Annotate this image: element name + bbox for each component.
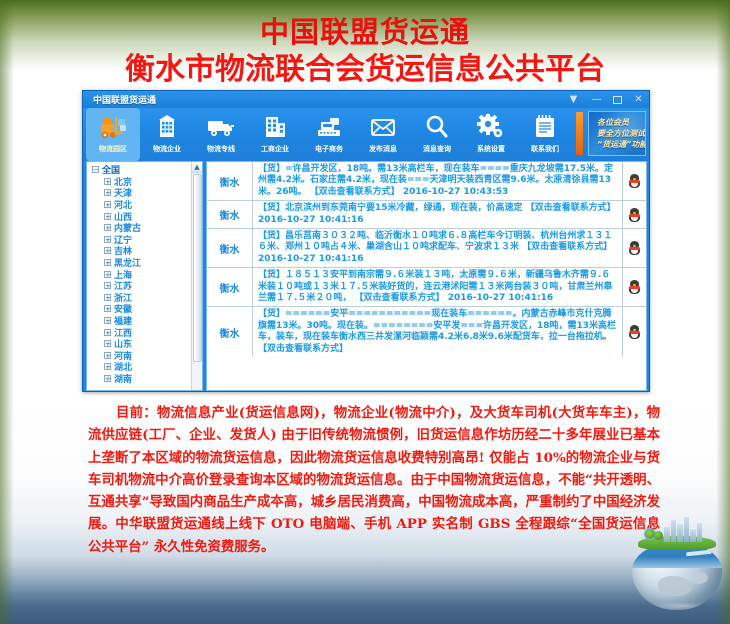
region-tree-panel: − 全国 +北京 +天津 +河北 +山西 +内蒙古 +辽宁 +吉林 +黑龙江 +… xyxy=(86,161,203,391)
row-message-text: 【货】======安平===========现在装车======。内蒙古赤峰市克… xyxy=(258,309,616,353)
truck-icon xyxy=(206,112,236,142)
toolbar-label: 物流园区 xyxy=(99,144,127,154)
scrollbar-thumb[interactable] xyxy=(193,174,202,362)
tree-node-province[interactable]: +黑龙江 xyxy=(91,257,202,269)
tree-node-province[interactable]: +天津 xyxy=(91,187,202,199)
tree-node-province[interactable]: +河南 xyxy=(91,350,202,362)
banner-line-1: 各位会员 xyxy=(597,117,645,128)
row-timestamp: 2016-10-27 10:41:16 xyxy=(448,293,553,303)
expand-icon[interactable]: + xyxy=(104,259,111,266)
page-title: 中国联盟货运通 衡水市物流联合会货运信息公共平台 xyxy=(0,14,730,90)
tree-node-province[interactable]: +内蒙古 xyxy=(91,222,202,234)
tree-node-province[interactable]: +山东 xyxy=(91,338,202,350)
expand-icon[interactable]: + xyxy=(104,282,111,289)
gear-icon xyxy=(477,112,505,142)
tree-scrollbar[interactable]: ▲ xyxy=(191,162,202,390)
toolbar-label: 物流专线 xyxy=(207,144,235,154)
globe-continent-small xyxy=(690,572,708,584)
office-icon xyxy=(262,112,288,142)
title-line-1: 中国联盟货运通 xyxy=(0,14,730,50)
expand-icon[interactable]: + xyxy=(104,271,111,278)
row-timestamp: 2016-10-27 10:41:16 xyxy=(258,215,363,225)
window-controls: ▼ — ✕ xyxy=(567,91,645,108)
freight-message-list: 衡水 【货】=许昌开发区，18吨。需13米高栏车，现在装车====重庆九龙坡需1… xyxy=(206,161,647,391)
toolbar-label: 电子商务 xyxy=(315,144,343,154)
tree-node-province[interactable]: +山西 xyxy=(91,210,202,222)
toolbar-item-logistics-line[interactable]: 物流专线 xyxy=(194,108,248,161)
forklift-icon xyxy=(98,112,128,142)
close-button[interactable]: ✕ xyxy=(632,95,645,105)
tree-node-province[interactable]: +辽宁 xyxy=(91,234,202,246)
globe-graphic xyxy=(628,514,726,618)
expand-icon[interactable]: + xyxy=(104,329,111,336)
banner-line-2: 要全方位测试 xyxy=(597,128,645,139)
description-paragraph: 目前：物流信息产业(货运信息网)，物流企业(物流中介)，及大货车司机(大货车车主… xyxy=(88,402,660,558)
table-row[interactable]: 衡水 【货】======安平===========现在装车======。内蒙古赤… xyxy=(207,307,646,357)
toolbar-item-logistics-park[interactable]: 物流园区 xyxy=(86,108,140,161)
globe-continent xyxy=(658,576,692,596)
qq-contact-button[interactable] xyxy=(622,307,646,357)
row-message: 【货】昌乐莒南３０３２吨、临沂衡水１０吨求６.８高栏车今订明装、杭州台州求１３１… xyxy=(253,229,622,267)
minimize-button[interactable]: — xyxy=(590,95,603,105)
toolbar-item-system-settings[interactable]: 系统设置 xyxy=(464,108,518,161)
row-message: 【货】北京滨州到东莞南宁要15米冷藏，绿通，现在装，价高速定 【双击查看联系方式… xyxy=(253,201,622,228)
tree-node-province[interactable]: +上海 xyxy=(91,268,202,280)
expand-icon[interactable]: + xyxy=(104,224,111,231)
region-tree: − 全国 +北京 +天津 +河北 +山西 +内蒙古 +辽宁 +吉林 +黑龙江 +… xyxy=(87,162,202,384)
toolbar-label: 工商企业 xyxy=(261,144,289,154)
toolbar-item-logistics-company[interactable]: 物流企业 xyxy=(140,108,194,161)
tree-node-province[interactable]: +浙江 xyxy=(91,292,202,304)
expand-icon[interactable]: + xyxy=(104,352,111,359)
qq-penguin-icon xyxy=(629,280,640,294)
expand-icon[interactable]: + xyxy=(104,178,111,185)
expand-icon[interactable]: + xyxy=(104,213,111,220)
envelope-icon xyxy=(369,112,397,142)
application-window: 中国联盟货运通 ▼ — ✕ 物 xyxy=(82,90,650,392)
toolbar-item-ecommerce[interactable]: 电子商务 xyxy=(302,108,356,161)
qq-penguin-icon xyxy=(629,241,640,255)
toolbar-item-message-query[interactable]: 消息查询 xyxy=(410,108,464,161)
tree-node-province[interactable]: +河北 xyxy=(91,199,202,211)
title-line-2: 衡水市物流联合会货运信息公共平台 xyxy=(0,50,730,90)
qq-contact-button[interactable] xyxy=(622,201,646,228)
row-city: 衡水 xyxy=(207,201,253,228)
toolbar-label: 联系我们 xyxy=(531,144,559,154)
scroll-up-icon[interactable]: ▲ xyxy=(192,162,202,173)
maximize-button[interactable] xyxy=(613,96,622,104)
collapse-icon[interactable]: − xyxy=(92,166,99,173)
qq-contact-button[interactable] xyxy=(622,162,646,200)
row-message-text: 【货】昌乐莒南３０３２吨、临沂衡水１０吨求６.８高栏车今订明装、杭州台州求１３１… xyxy=(258,231,612,252)
notepad-icon xyxy=(533,112,557,142)
tree-node-label: 湖南 xyxy=(114,372,132,385)
dropdown-icon[interactable]: ▼ xyxy=(567,95,580,105)
background-edge-left xyxy=(0,0,14,624)
toolbar-label: 物流企业 xyxy=(153,144,181,154)
qq-penguin-icon xyxy=(629,174,640,188)
search-icon xyxy=(424,112,450,142)
toolbar-label: 发布消息 xyxy=(369,144,397,154)
expand-icon[interactable]: + xyxy=(104,201,111,208)
qq-penguin-icon xyxy=(629,208,640,222)
toolbar-item-industrial-company[interactable]: 工商企业 xyxy=(248,108,302,161)
tree-node-province[interactable]: +安徽 xyxy=(91,303,202,315)
expand-icon[interactable]: + xyxy=(104,363,111,370)
table-row[interactable]: 衡水 【货】=许昌开发区，18吨。需13米高栏车，现在装车====重庆九龙坡需1… xyxy=(207,162,646,201)
toolbar-divider xyxy=(576,112,583,155)
table-row[interactable]: 衡水 【货】北京滨州到东莞南宁要15米冷藏，绿通，现在装，价高速定 【双击查看联… xyxy=(207,201,646,229)
tree-icon-small xyxy=(654,531,663,540)
globe-sphere xyxy=(632,542,722,610)
main-toolbar: 物流园区 物流企业 xyxy=(83,108,649,161)
expand-icon[interactable]: + xyxy=(104,340,111,347)
toolbar-label: 消息查询 xyxy=(423,144,451,154)
row-city: 衡水 xyxy=(207,268,253,306)
tree-node-province[interactable]: +吉林 xyxy=(91,245,202,257)
row-city: 衡水 xyxy=(207,229,253,267)
tree-node-province[interactable]: +江西 xyxy=(91,326,202,338)
row-message: 【货】=许昌开发区，18吨。需13米高栏车，现在装车====重庆九龙坡需17.5… xyxy=(253,162,622,200)
banner-line-3: “货运通”功能！ xyxy=(597,139,645,150)
tree-node-province[interactable]: +湖北 xyxy=(91,361,202,373)
expand-icon[interactable]: + xyxy=(104,247,111,254)
tree-node-province[interactable]: +湖南 xyxy=(91,373,202,385)
expand-icon[interactable]: + xyxy=(104,294,111,301)
expand-icon[interactable]: + xyxy=(104,189,111,196)
tree-node-province[interactable]: +江苏 xyxy=(91,280,202,292)
expand-icon[interactable]: + xyxy=(104,236,111,243)
window-title: 中国联盟货运通 xyxy=(93,93,156,106)
globe-reflection xyxy=(652,602,710,610)
toolbar-item-publish-message[interactable]: 发布消息 xyxy=(356,108,410,161)
row-message: 【货】======安平===========现在装车======。内蒙古赤峰市克… xyxy=(253,307,622,357)
member-notice-banner[interactable]: 各位会员 要全方位测试 “货运通”功能！ xyxy=(588,111,646,156)
row-message-text: 【货】北京滨州到东莞南宁要15米冷藏，绿通，现在装，价高速定 【双击查看联系方式… xyxy=(258,203,616,213)
qq-penguin-icon xyxy=(629,325,640,339)
row-city: 衡水 xyxy=(207,162,253,200)
table-row[interactable]: 衡水 【货】１８５１３安平到南宗需９.６米装１３吨，太原需９.６米，新疆乌鲁木齐… xyxy=(207,268,646,307)
expand-icon[interactable]: + xyxy=(104,375,111,382)
toolbar-label: 系统设置 xyxy=(477,144,505,154)
building-icon xyxy=(154,112,180,142)
application-body: − 全国 +北京 +天津 +河北 +山西 +内蒙古 +辽宁 +吉林 +黑龙江 +… xyxy=(83,161,649,393)
row-timestamp: 2016-10-27 10:43:53 xyxy=(403,187,508,197)
row-city: 衡水 xyxy=(207,307,253,357)
row-message-text: 【货】１８５１３安平到南宗需９.６米装１３吨，太原需９.６米，新疆乌鲁木齐需９.… xyxy=(258,270,612,303)
row-message: 【货】１８５１３安平到南宗需９.６米装１３吨，太原需９.６米，新疆乌鲁木齐需９.… xyxy=(253,268,622,306)
qq-contact-button[interactable] xyxy=(622,268,646,306)
window-titlebar: 中国联盟货运通 ▼ — ✕ xyxy=(83,91,649,108)
expand-icon[interactable]: + xyxy=(104,305,111,312)
toolbar-item-contact-us[interactable]: 联系我们 xyxy=(518,108,572,161)
expand-icon[interactable]: + xyxy=(104,317,111,324)
cash-register-icon xyxy=(315,112,343,142)
table-row[interactable]: 衡水 【货】昌乐莒南３０３２吨、临沂衡水１０吨求６.８高栏车今订明装、杭州台州求… xyxy=(207,229,646,268)
row-timestamp: 2016-10-27 10:41:16 xyxy=(258,254,363,264)
tree-node-province[interactable]: +福建 xyxy=(91,315,202,327)
qq-contact-button[interactable] xyxy=(622,229,646,267)
cityscape-icon xyxy=(664,516,706,542)
tree-node-nationwide[interactable]: − 全国 xyxy=(91,164,202,176)
tree-node-province[interactable]: +北京 xyxy=(91,176,202,188)
